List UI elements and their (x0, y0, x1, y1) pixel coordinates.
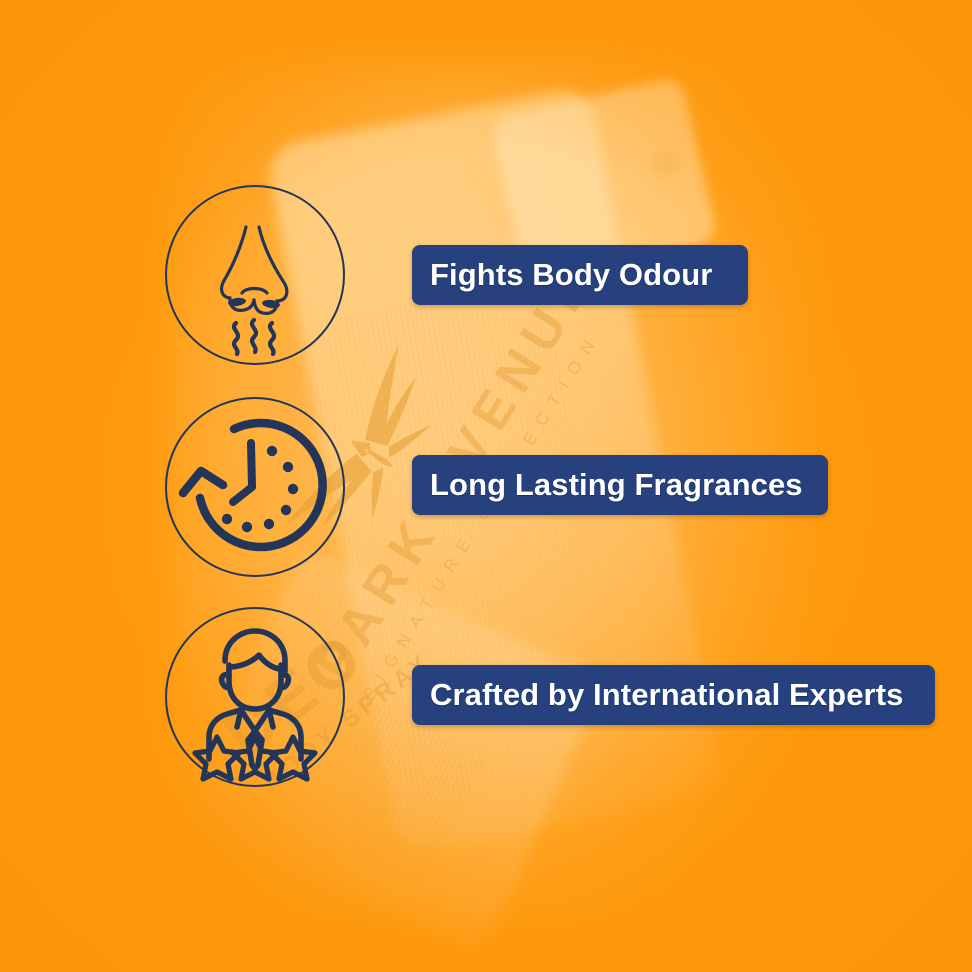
clock-arrow-icon (167, 399, 343, 575)
infographic-canvas: PARK AVENUE® SIGNATURE COLLECTION DEO BO… (0, 0, 972, 972)
expert-person-stars-icon (167, 609, 343, 785)
feature-icon-circle-3 (165, 607, 345, 787)
feature-list: Fights Body Odour (0, 0, 972, 972)
feature-row-3: Crafted by International Experts (0, 597, 972, 797)
feature-icon-circle-2 (165, 397, 345, 577)
feature-row-1: Fights Body Odour (0, 175, 972, 375)
feature-badge-2[interactable]: Long Lasting Fragrances (412, 455, 828, 515)
feature-icon-circle-1 (165, 185, 345, 365)
feature-label-2: Long Lasting Fragrances (430, 467, 803, 503)
nose-odour-icon (167, 187, 343, 363)
feature-label-1: Fights Body Odour (430, 257, 712, 293)
feature-label-3: Crafted by International Experts (430, 677, 903, 713)
feature-badge-1[interactable]: Fights Body Odour (412, 245, 748, 305)
feature-row-2: Long Lasting Fragrances (0, 387, 972, 587)
feature-badge-3[interactable]: Crafted by International Experts (412, 665, 935, 725)
